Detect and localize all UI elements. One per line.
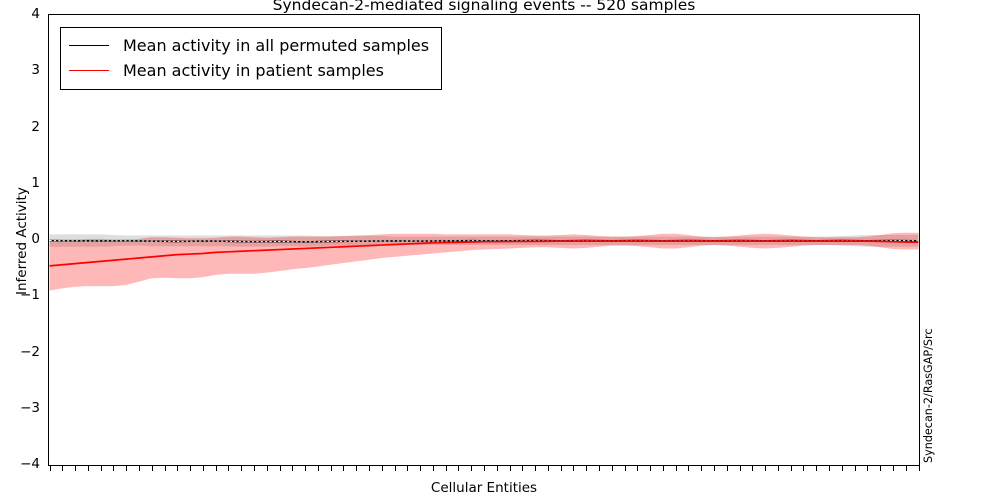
y-tick-label: 3 [0,64,40,77]
x-tick-mark [599,466,600,471]
y-tick-label: −1 [0,289,40,302]
x-tick-mark [791,466,792,471]
x-tick-mark [139,466,140,471]
x-tick-mark [714,466,715,471]
x-tick-mark [305,466,306,471]
x-tick-mark [458,466,459,471]
x-tick-mark [343,466,344,471]
x-tick-mark [126,466,127,471]
x-tick-mark [727,466,728,471]
x-tick-mark [867,466,868,471]
x-tick-mark [842,466,843,471]
y-tick-label: 4 [0,8,40,21]
x-tick-mark [471,466,472,471]
legend: Mean activity in all permuted samples Me… [60,27,442,90]
y-tick-label: 2 [0,121,40,134]
x-tick-mark [165,466,166,471]
x-tick-mark [446,466,447,471]
x-tick-mark [701,466,702,471]
x-tick-mark [880,466,881,471]
legend-item: Mean activity in all permuted samples [69,33,429,58]
x-tick-mark [382,466,383,471]
x-tick-mark [676,466,677,471]
x-tick-mark [318,466,319,471]
legend-label-patient: Mean activity in patient samples [123,61,384,80]
x-tick-mark [280,466,281,471]
x-tick-mark [407,466,408,471]
x-tick-mark [190,466,191,471]
x-tick-mark [752,466,753,471]
x-tick-mark [688,466,689,471]
x-tick-mark [50,466,51,471]
x-tick-mark [650,466,651,471]
x-tick-mark [228,466,229,471]
x-tick-mark [855,466,856,471]
x-tick-mark [241,466,242,471]
x-tick-mark [75,466,76,471]
legend-swatch-permuted [69,45,109,46]
x-tick-mark [893,466,894,471]
x-tick-mark [548,466,549,471]
x-tick-mark [267,466,268,471]
x-tick-mark [62,466,63,471]
x-tick-mark [561,466,562,471]
x-tick-mark [803,466,804,471]
x-tick-mark [88,466,89,471]
x-tick-mark [152,466,153,471]
x-axis-label: Cellular Entities [48,480,920,496]
x-tick-mark [829,466,830,471]
x-tick-label: Syndecan-2/RasGAP/Src [923,329,934,463]
x-tick-mark [612,466,613,471]
y-tick-label: −3 [0,402,40,415]
x-tick-mark [369,466,370,471]
x-tick-mark [497,466,498,471]
x-tick-mark [573,466,574,471]
x-tick-mark [420,466,421,471]
x-tick-mark [356,466,357,471]
x-tick-mark [113,466,114,471]
x-tick-mark [101,466,102,471]
y-tick-label: 1 [0,177,40,190]
x-tick-mark [254,466,255,471]
x-tick-mark [816,466,817,471]
x-tick-mark [906,466,907,471]
x-tick-mark [510,466,511,471]
x-tick-mark [292,466,293,471]
x-tick-mark [778,466,779,471]
figure: Syndecan-2-mediated signaling events -- … [0,0,1000,500]
x-tick-mark [177,466,178,471]
y-tick-label: 0 [0,233,40,246]
legend-swatch-patient [69,70,109,71]
x-tick-mark [765,466,766,471]
x-tick-mark [395,466,396,471]
x-tick-mark [586,466,587,471]
x-tick-mark [216,466,217,471]
x-tick-mark [919,466,920,471]
x-tick-mark [637,466,638,471]
x-tick-mark [484,466,485,471]
legend-label-permuted: Mean activity in all permuted samples [123,36,429,55]
x-tick-mark [522,466,523,471]
x-tick-mark [663,466,664,471]
x-tick-mark [535,466,536,471]
x-tick-mark [203,466,204,471]
y-tick-label: −2 [0,346,40,359]
chart-title: Syndecan-2-mediated signaling events -- … [48,0,920,14]
legend-item: Mean activity in patient samples [69,58,429,83]
x-tick-mark [331,466,332,471]
x-tick-mark [625,466,626,471]
x-tick-mark [740,466,741,471]
x-tick-mark [433,466,434,471]
y-tick-label: −4 [0,458,40,471]
